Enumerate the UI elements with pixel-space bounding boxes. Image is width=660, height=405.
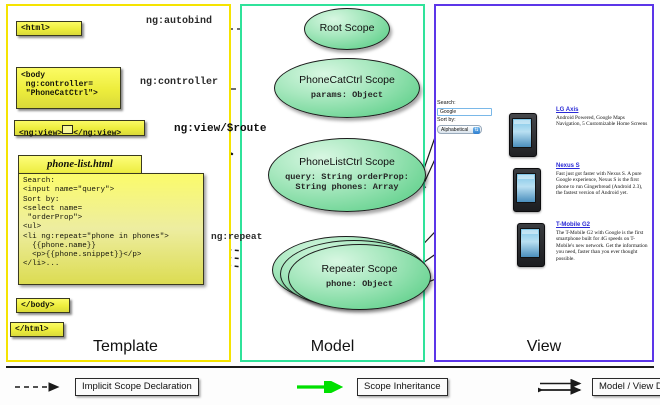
- legend-item-implicit-scope-declaration: Implicit Scope Declaration: [14, 378, 199, 395]
- phone-thumbnail-lg-axis: [509, 113, 535, 155]
- template-column-label: Template: [22, 338, 229, 356]
- diagram-canvas: Template <html> <body ng:controller= "Ph…: [0, 0, 660, 405]
- model-column-label: Model: [242, 338, 423, 356]
- legend-label: Implicit Scope Declaration: [75, 378, 199, 396]
- edge-label-ng-controller: ng:controller: [140, 77, 218, 88]
- phone-screen: [520, 228, 540, 258]
- ng-view-placeholder-icon: [62, 125, 73, 134]
- phone-list-note: phone-list.html Search: <input name="que…: [18, 155, 206, 290]
- edge-label-ng-repeat: ng:repeat: [211, 231, 262, 242]
- phone-name-link[interactable]: T-Mobile G2: [556, 221, 648, 229]
- sort-select-value: Alphabetical: [441, 127, 468, 133]
- legend-item-scope-inheritance: Scope Inheritance: [296, 378, 448, 395]
- phone-name-link[interactable]: Nexus S: [556, 162, 648, 170]
- scope-root-title: Root Scope: [320, 23, 375, 35]
- phone-list-item: Nexus S Fast just got faster with Nexus …: [556, 162, 648, 197]
- chevron-updown-icon: ⇅: [473, 127, 480, 134]
- html-close-tag: </html>: [10, 322, 64, 337]
- phone-screen: [516, 173, 536, 203]
- phone-list-note-code: Search: <input name="query"> Sort by: <s…: [18, 173, 204, 285]
- scope-phonelistctrl-title: PhoneListCtrl Scope: [299, 157, 395, 169]
- legend-divider: [6, 366, 654, 368]
- ng-view-open-tag: <ng:view>: [19, 129, 62, 138]
- scope-repeater-title: Repeater Scope: [322, 264, 398, 276]
- dashed-arrow-icon: [14, 381, 68, 393]
- green-arrow-icon: [296, 381, 350, 393]
- phone-thumbnail-t-mobile-g2: [517, 223, 543, 265]
- edge-label-ng-autobind: ng:autobind: [146, 16, 212, 27]
- scope-phonecatctrl: PhoneCatCtrl Scope params: Object: [274, 58, 420, 118]
- sort-select[interactable]: Alphabetical⇅: [437, 125, 482, 134]
- phone-snippet: Fast just got faster with Nexus S. A pur…: [556, 171, 648, 197]
- body-open-tag: <body ng:controller= "PhoneCatCtrl">: [16, 67, 121, 109]
- scope-phonecatctrl-title: PhoneCatCtrl Scope: [299, 75, 395, 87]
- phone-snippet: Android Powered, Google Maps Navigation,…: [556, 115, 648, 128]
- scope-phonelistctrl-fields: query: String orderProp: String phones: …: [269, 172, 425, 193]
- view-column-label: View: [436, 338, 652, 356]
- edge-label-ng-view-route: ng:view/$route: [174, 123, 266, 135]
- view-filter-form: Search: Google Sort by: Alphabetical⇅: [437, 100, 497, 134]
- scope-phonecatctrl-fields: params: Object: [311, 90, 383, 100]
- legend-item-data-binding: Model / View Data-binding: [538, 378, 660, 395]
- phone-name-link[interactable]: LG Axis: [556, 106, 648, 114]
- ng-view-close-tag: </ng:view>: [73, 129, 121, 138]
- scope-repeater-fields: phone: Object: [326, 279, 393, 289]
- body-close-tag: </body>: [16, 298, 70, 313]
- legend: Implicit Scope Declaration Scope Inherit…: [0, 366, 660, 405]
- legend-label: Scope Inheritance: [357, 378, 448, 396]
- search-label: Search:: [437, 100, 497, 107]
- phone-thumbnail-nexus-s: [513, 168, 539, 210]
- ng-view-element: <ng:view></ng:view>: [14, 120, 145, 136]
- legend-label: Model / View Data-binding: [592, 378, 660, 396]
- search-input[interactable]: Google: [437, 108, 492, 116]
- phone-snippet: The T-Mobile G2 with Google is the first…: [556, 230, 648, 262]
- phone-list-note-title: phone-list.html: [18, 155, 142, 174]
- phone-list-item: LG Axis Android Powered, Google Maps Nav…: [556, 106, 648, 128]
- html-open-tag: <html>: [16, 21, 82, 36]
- phone-list-item: T-Mobile G2 The T-Mobile G2 with Google …: [556, 221, 648, 262]
- phone-screen: [512, 118, 532, 148]
- scope-phonelistctrl: PhoneListCtrl Scope query: String orderP…: [268, 138, 426, 212]
- scope-root: Root Scope: [304, 8, 390, 50]
- scope-repeater: Repeater Scope phone: Object: [288, 244, 431, 310]
- double-arrow-icon: [538, 379, 588, 395]
- sort-label: Sort by:: [437, 117, 497, 124]
